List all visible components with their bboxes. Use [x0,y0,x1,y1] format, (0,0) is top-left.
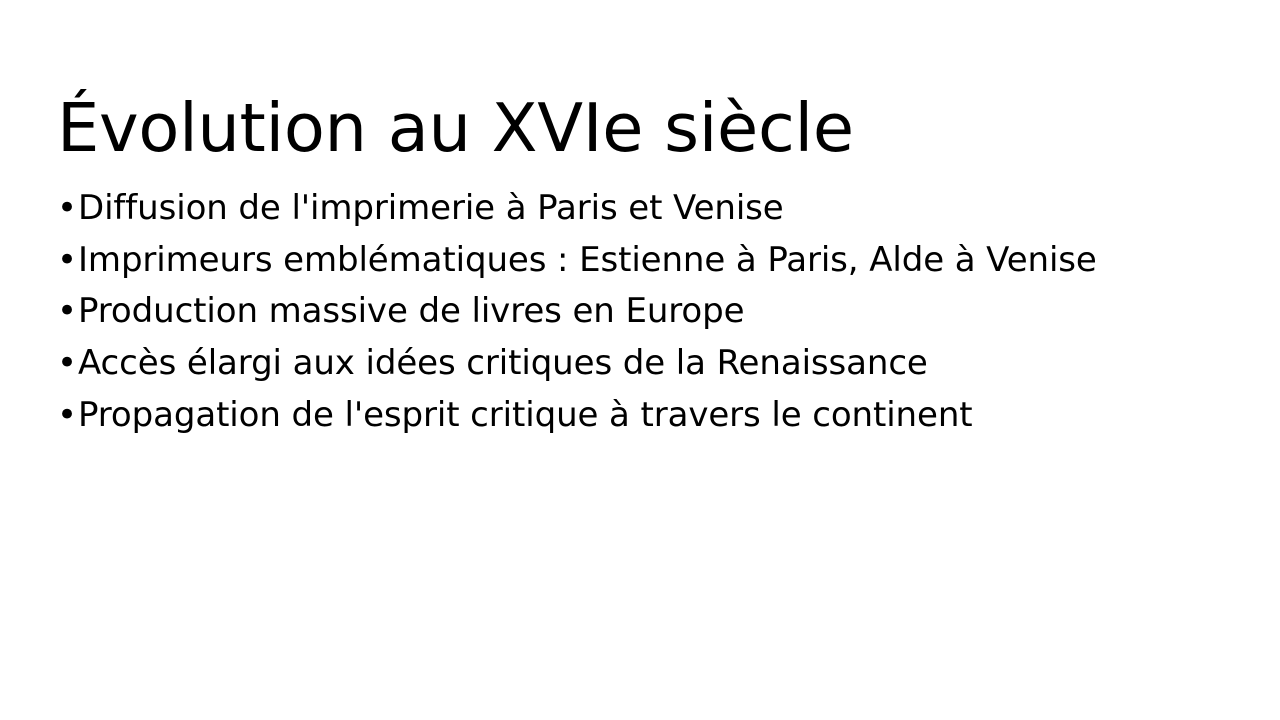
bullet-point-icon: • [57,183,78,235]
list-item-label: Production massive de livres en Europe [78,291,744,331]
list-item: • Propagation de l'esprit critique à tra… [57,390,1227,442]
list-item-label: Diffusion de l'imprimerie à Paris et Ven… [78,188,784,228]
list-item: • Diffusion de l'imprimerie à Paris et V… [57,183,1227,235]
bullet-point-icon: • [57,338,78,390]
bullet-list: • Diffusion de l'imprimerie à Paris et V… [57,183,1227,442]
list-item: • Accès élargi aux idées critiques de la… [57,338,1227,390]
list-item: • Imprimeurs emblématiques : Estienne à … [57,235,1227,287]
bullet-point-icon: • [57,286,78,338]
list-item-label: Propagation de l'esprit critique à trave… [78,395,973,435]
list-item-label: Accès élargi aux idées critiques de la R… [78,343,928,383]
page-title: Évolution au XVIe siècle [57,93,1223,164]
list-item-label: Imprimeurs emblématiques : Estienne à Pa… [78,240,1097,280]
bullet-point-icon: • [57,390,78,442]
bullet-point-icon: • [57,235,78,287]
list-item: • Production massive de livres en Europe [57,286,1227,338]
slide-content-body: • Diffusion de l'imprimerie à Paris et V… [57,183,1227,442]
presentation-slide: Évolution au XVIe siècle • Diffusion de … [0,0,1280,720]
